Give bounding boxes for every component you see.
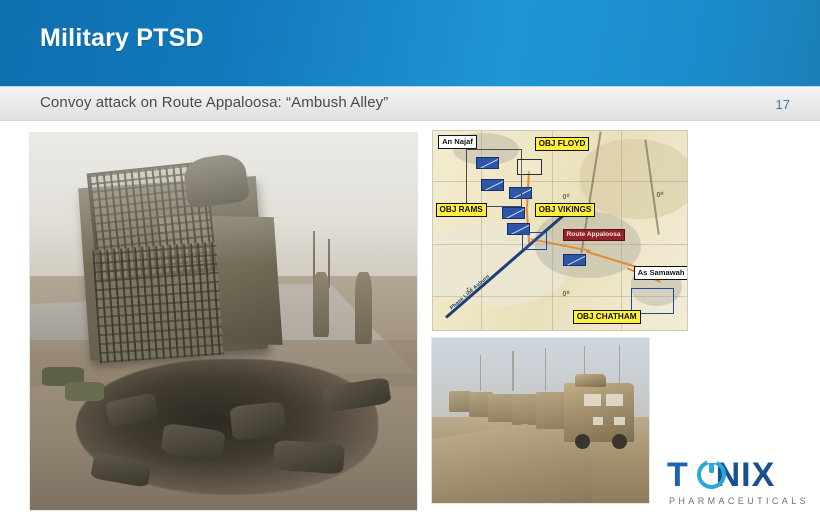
soldier-figure bbox=[355, 272, 372, 344]
military-convoy-photo bbox=[432, 338, 649, 503]
obj-vikings-box bbox=[522, 232, 547, 250]
map-label-obj-chatham: OBJ CHATHAM bbox=[573, 310, 641, 324]
obj-floyd-box bbox=[517, 159, 542, 175]
page-number: 17 bbox=[776, 97, 790, 112]
vehicle-window bbox=[584, 394, 601, 406]
scattered-equipment bbox=[65, 382, 104, 401]
convoy-lead-vehicle-turret bbox=[575, 374, 605, 387]
logo-letter-t: T bbox=[667, 456, 688, 494]
map-label-an-najaf: An Najaf bbox=[438, 135, 477, 149]
tonix-pharmaceuticals-logo: TONIX PHARMACEUTICALS bbox=[667, 458, 815, 516]
map-gridline bbox=[552, 131, 553, 330]
convoy-lead-vehicle bbox=[564, 383, 633, 442]
road-debris bbox=[273, 440, 345, 475]
map-label-obj-floyd: OBJ FLOYD bbox=[535, 137, 590, 151]
road-debris bbox=[230, 402, 287, 441]
soldier-figure bbox=[313, 272, 329, 336]
logo-tagline: PHARMACEUTICALS bbox=[669, 496, 809, 506]
utility-pole bbox=[619, 345, 621, 388]
slide-content: Phase Line Auburn An Najaf OBJ FLOYD OBJ… bbox=[0, 121, 820, 531]
vehicle-window bbox=[606, 394, 623, 406]
map-grid-marker: 1² bbox=[466, 288, 472, 294]
map-label-route-appaloosa: Route Appaloosa bbox=[563, 229, 625, 242]
vehicle-wheel bbox=[575, 434, 590, 449]
destroyed-armored-vehicle-photo bbox=[30, 133, 417, 510]
subtitle-text: Convoy attack on Route Appaloosa: “Ambus… bbox=[40, 94, 388, 111]
obj-rams-box bbox=[466, 149, 522, 207]
vehicle-window bbox=[593, 417, 604, 425]
power-symbol-icon bbox=[697, 460, 726, 489]
vehicle-wheel bbox=[612, 434, 627, 449]
map-grid-marker: 0⁰ bbox=[563, 290, 570, 298]
unit-symbol bbox=[563, 254, 586, 266]
map-grid-marker: 0⁰ bbox=[563, 193, 570, 201]
subtitle-bar: Convoy attack on Route Appaloosa: “Ambus… bbox=[0, 86, 820, 121]
utility-pole bbox=[512, 351, 514, 391]
vehicle-slat-armor-lower bbox=[92, 242, 223, 363]
utility-pole bbox=[480, 355, 482, 391]
iraq-operations-map: Phase Line Auburn An Najaf OBJ FLOYD OBJ… bbox=[432, 130, 688, 331]
map-label-obj-vikings: OBJ VIKINGS bbox=[535, 203, 596, 217]
convoy-vehicle bbox=[449, 391, 471, 412]
utility-pole bbox=[545, 348, 547, 391]
map-canvas: Phase Line Auburn An Najaf OBJ FLOYD OBJ… bbox=[433, 131, 687, 330]
map-label-as-samawah: As Samawah bbox=[634, 266, 688, 280]
map-label-obj-rams: OBJ RAMS bbox=[436, 203, 487, 217]
unit-symbol bbox=[502, 207, 525, 219]
slide-header: Military PTSD bbox=[0, 0, 820, 86]
map-grid-marker: 0⁰ bbox=[657, 191, 664, 199]
vehicle-window bbox=[614, 417, 625, 425]
page-title: Military PTSD bbox=[40, 24, 204, 53]
